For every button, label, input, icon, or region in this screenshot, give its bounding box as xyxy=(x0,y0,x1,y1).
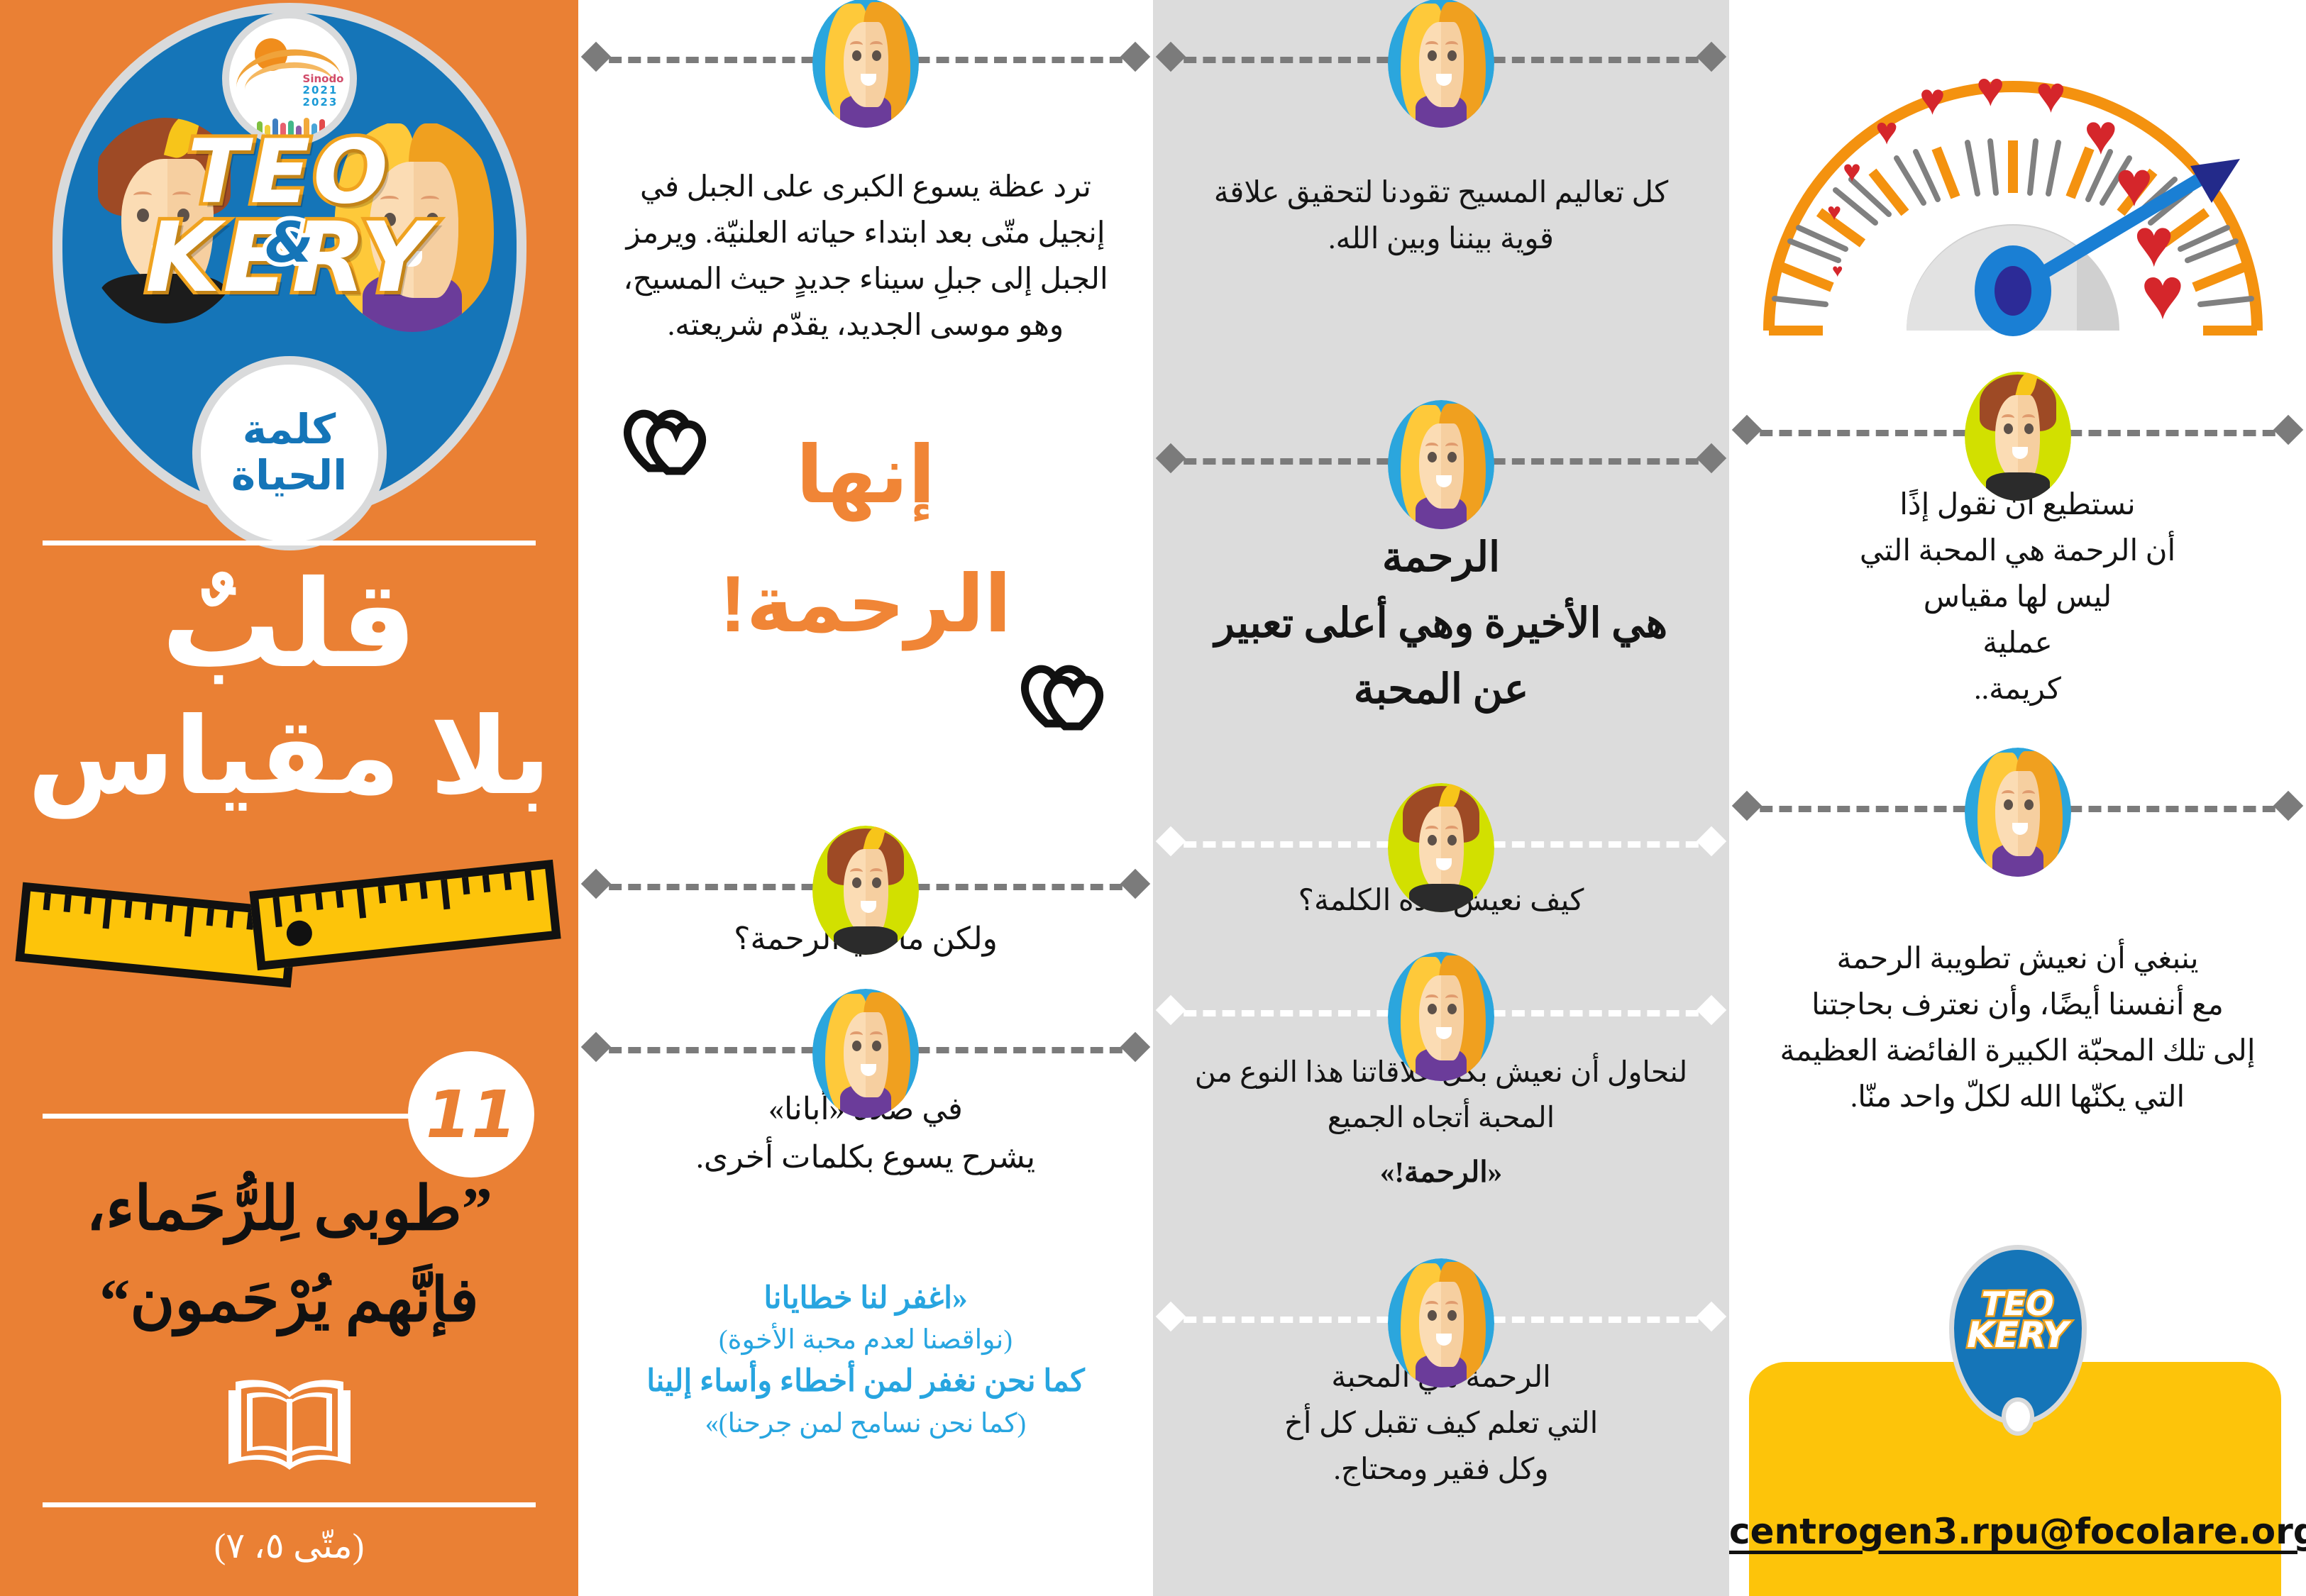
cover-rule-bottom xyxy=(43,1502,536,1507)
brand-wordmark: TEO KERY & xyxy=(62,132,517,304)
cover-rule-middle xyxy=(43,1114,411,1119)
gauge-heart-7: ♥ xyxy=(2036,70,2066,121)
gauge-heart-3: ♥ xyxy=(1843,156,1861,187)
avatar-teo-measure xyxy=(1965,372,2071,501)
teaching-block-3-line3: وكل فقير ومحتاج. xyxy=(1193,1447,1689,1493)
teaching-heading: الرحمة هي الأخيرة وهي أعلى تعبير عن المح… xyxy=(1153,525,1729,722)
avatar-teo-question xyxy=(812,826,919,955)
teo-kery-mini-logo: TEO KERY xyxy=(1954,1250,2082,1420)
teaching-block-2-line2: المحبة أتجاه الجميع xyxy=(1193,1095,1689,1141)
avatar-kery-teaching-2 xyxy=(1388,400,1494,529)
teaching-block-2-line3: «الرحمة!» xyxy=(1193,1150,1689,1195)
synod-text: Sinodo 2021 2023 xyxy=(303,73,344,109)
panel-teaching: كل تعاليم المسيح تقودنا لتحقيق علاقة قوي… xyxy=(1153,0,1729,1596)
measure-block-1: نستطيع أن نقول إذًا أن الرحمة هي المحبة … xyxy=(1729,482,2306,713)
double-heart-icon-bottom xyxy=(1018,653,1110,742)
separator-teaching-5 xyxy=(1153,1302,1729,1331)
heart-gauge-illustration: ♥ ♥ ♥ ♥ ♥ ♥ ♥ ♥ ♥ ♥ ♥ xyxy=(1743,7,2283,340)
measure-block-1-line5: كريمة.. xyxy=(1769,667,2266,713)
gauge-heart-8: ♥ xyxy=(2084,106,2118,163)
separator-teaching-3 xyxy=(1153,827,1729,855)
separator-teaching-2 xyxy=(1153,444,1729,472)
ruler-illustration xyxy=(18,871,558,977)
cover-title-line2: بلا مقياس xyxy=(0,699,578,814)
avatar-kery-measure xyxy=(1965,748,2071,877)
headline-mercy: إنها الرحمة! xyxy=(578,426,1153,654)
word-of-life-text: كلمة الحياة xyxy=(231,407,347,499)
open-book-icon xyxy=(219,1370,360,1480)
panel-cover: Sinodo 2021 2023 xyxy=(0,0,578,1596)
contact-email-link[interactable]: centrogen3.rpu@focolare.org xyxy=(1729,1511,2306,1552)
headline-mercy-line2: الرحمة! xyxy=(578,555,1153,654)
teaching-block-1: كل تعاليم المسيح تقودنا لتحقيق علاقة قوي… xyxy=(1153,170,1729,262)
gauge-heart-5: ♥ xyxy=(1919,78,1946,122)
prayer-line2: (نواقصنا لعدم محبة الأخوة) xyxy=(604,1321,1127,1360)
wordmark-teo: TEO xyxy=(62,132,517,213)
word-of-life-badge: كلمة الحياة xyxy=(201,365,378,542)
gauge-heart-2: ♥ xyxy=(1827,200,1841,224)
gauge-heart-4: ♥ xyxy=(1875,112,1898,150)
measure-block-2-line2: مع أنفسنا أيضًا، وأن نعترف بحاجتنا xyxy=(1769,982,2266,1029)
measure-block-2-line3: إلى تلك المحبّة الكبيرة الفائضة العظيمة xyxy=(1769,1029,2266,1075)
synod-year-2: 2023 xyxy=(303,96,344,109)
issue-number: 11 xyxy=(426,1077,517,1153)
measure-block-2-line1: ينبغي أن نعيش تطويبة الرحمة xyxy=(1769,936,2266,982)
prayer-line3: كما نحن نغفر لمن أخطاء وأساء إلينا xyxy=(604,1360,1127,1404)
avatar-kery-teaching-1 xyxy=(1388,0,1494,128)
synod-name: Sinodo xyxy=(303,73,344,85)
panel-measure: ♥ ♥ ♥ ♥ ♥ ♥ ♥ ♥ ♥ ♥ ♥ xyxy=(1729,0,2306,1596)
cover-verse-line2: فإنَّهم يُرْحَمون“ xyxy=(28,1255,550,1346)
measure-block-1-line3: ليس لها مقياس xyxy=(1769,575,2266,621)
separator-intro-3 xyxy=(578,1033,1153,1061)
word-of-life-line1: كلمة xyxy=(231,407,347,453)
issue-number-badge: 11 xyxy=(408,1051,534,1177)
separator-intro-2 xyxy=(578,870,1153,898)
intro-paragraph: ترد عظة يسوع الكبرى على الجبل في إنجيل م… xyxy=(578,165,1153,349)
gauge-heart-1: ♥ xyxy=(1832,261,1843,279)
cover-rule-top xyxy=(43,541,536,545)
wordmark-ampersand: & xyxy=(265,211,313,275)
cover-title-line1: قلبٌ xyxy=(0,560,578,691)
avatar-teo-teaching xyxy=(1388,783,1494,912)
intro-answer-line2: يشرح يسوع بكلمات أخرى. xyxy=(618,1134,1113,1182)
teaching-heading-line2: هي الأخيرة وهي أعلى تعبير xyxy=(1193,591,1689,657)
teaching-block-3-line2: التي تعلم كيف تقبل كل أخ xyxy=(1193,1401,1689,1447)
prayer-line1: «اغفر لنا خطايانا xyxy=(604,1277,1127,1321)
synod-year-1: 2021 xyxy=(303,84,344,96)
gauge-heart-6: ♥ xyxy=(1976,65,2004,113)
avatar-kery-teaching-3 xyxy=(1388,952,1494,1081)
panel-intro: ترد عظة يسوع الكبرى على الجبل في إنجيل م… xyxy=(578,0,1153,1596)
measure-block-2: ينبغي أن نعيش تطويبة الرحمة مع أنفسنا أي… xyxy=(1729,936,2306,1121)
lords-prayer-block: «اغفر لنا خطايانا (نواقصنا لعدم محبة الأ… xyxy=(604,1277,1127,1443)
word-of-life-line2: الحياة xyxy=(231,453,347,499)
teo-kery-logo-badge: Sinodo 2021 2023 xyxy=(62,13,517,509)
measure-block-2-line4: التي يكنّها الله لكلّ واحد منّا. xyxy=(1769,1075,2266,1121)
headline-mercy-line1: إنها xyxy=(578,426,1153,525)
avatar-kery-intro xyxy=(812,0,919,128)
teaching-heading-line3: عن المحبة xyxy=(1193,657,1689,723)
separator-teaching-4 xyxy=(1153,996,1729,1024)
mini-logo-wordmark: TEO KERY xyxy=(1954,1290,2082,1353)
scripture-reference: (متّى ٥، ٧) xyxy=(0,1525,578,1566)
separator-intro-1 xyxy=(578,43,1153,71)
measure-block-1-line2: أن الرحمة هي المحبة التي xyxy=(1769,528,2266,575)
cover-verse: ”طوبى لِلرُّحَماء، فإنَّهم يُرْحَمون“ xyxy=(28,1163,550,1346)
separator-teaching-1 xyxy=(1153,43,1729,71)
avatar-kery-teaching-4 xyxy=(1388,1258,1494,1387)
ruler-segment-right xyxy=(249,860,561,970)
separator-measure-1 xyxy=(1729,416,2306,444)
mini-logo-dot xyxy=(2006,1402,2030,1431)
separator-measure-2 xyxy=(1729,792,2306,820)
mini-logo-kery: KERY xyxy=(1954,1319,2082,1353)
teaching-heading-line1: الرحمة xyxy=(1193,525,1689,591)
prayer-line4: (كما نحن نسامح لمن جرحنا)» xyxy=(604,1404,1127,1443)
gauge-heart-11: ♥ xyxy=(2141,257,2185,331)
measure-block-1-line4: عملية xyxy=(1769,621,2266,667)
cover-verse-line1: ”طوبى لِلرُّحَماء، xyxy=(28,1163,550,1255)
avatar-kery-answer xyxy=(812,989,919,1118)
brochure-sheet: Sinodo 2021 2023 xyxy=(0,0,2306,1596)
